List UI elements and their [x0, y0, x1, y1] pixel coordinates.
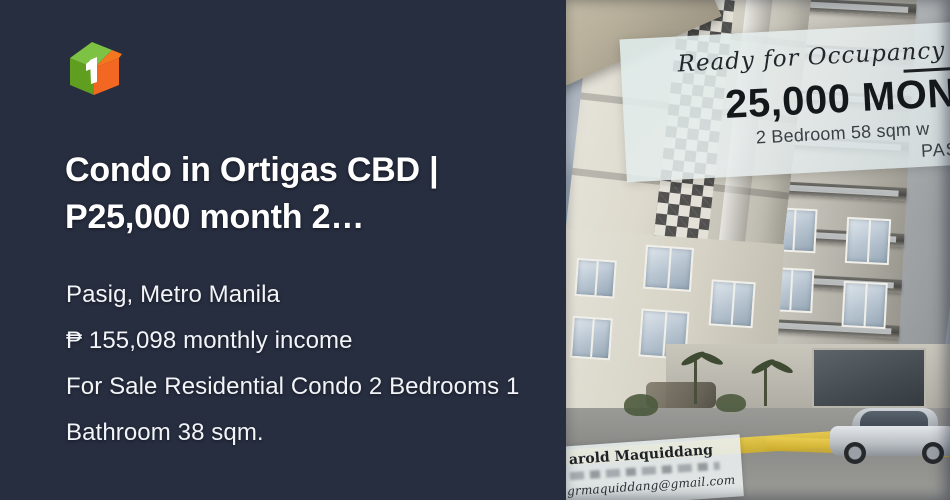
- parked-car: [830, 410, 950, 466]
- shrub: [716, 394, 746, 412]
- listing-description: For Sale Residential Condo 2 Bedrooms 1 …: [66, 364, 541, 456]
- listing-location: Pasig, Metro Manila: [66, 272, 541, 318]
- shrub: [624, 394, 658, 416]
- listing-meta: Pasig, Metro Manila ₱ 155,098 monthly in…: [66, 272, 541, 456]
- agent-contact-overlay: arold Maquiddang grmaquiddang@gmail.com: [566, 434, 744, 500]
- palm-tree: [694, 358, 697, 404]
- listing-income: ₱ 155,098 monthly income: [66, 318, 541, 364]
- listing-photo[interactable]: Ready for Occupancy and 25,000 MON 2 Bed…: [566, 0, 950, 500]
- house-one-logo-icon: [64, 35, 126, 97]
- brand-logo[interactable]: [64, 35, 126, 97]
- page-title: Condo in Ortigas CBD | P25,000 month 2…: [65, 147, 535, 240]
- promo-banner-overlay: Ready for Occupancy and 25,000 MON 2 Bed…: [620, 21, 950, 183]
- palm-tree: [764, 366, 767, 406]
- glass-facade-panel: [812, 348, 926, 408]
- listing-card[interactable]: Condo in Ortigas CBD | P25,000 month 2… …: [0, 0, 950, 500]
- listing-info-panel: Condo in Ortigas CBD | P25,000 month 2… …: [0, 0, 566, 500]
